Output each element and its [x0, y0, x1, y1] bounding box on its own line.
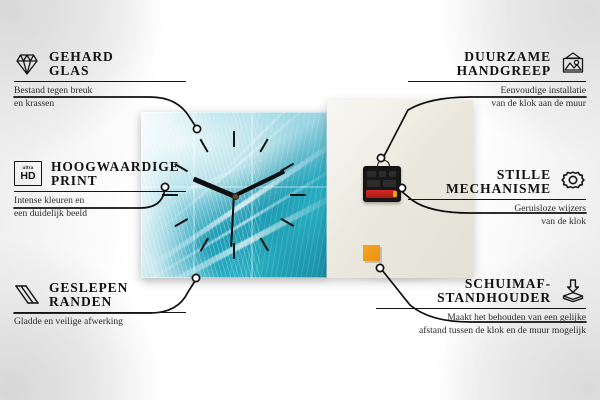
divider — [14, 81, 186, 83]
feature-title-line: RANDEN — [49, 295, 128, 309]
feature-title-line: HANDGREEP — [457, 64, 551, 78]
feature-stille-mechanisme: STILLE MECHANISME Geruisloze wijzers van… — [408, 168, 586, 228]
feature-title-line: PRINT — [51, 174, 180, 188]
battery — [366, 190, 396, 198]
feature-description: Intense kleuren en een duidelijk beeld — [14, 195, 186, 220]
feature-duurzame-handgreep: DUURZAME HANDGREEP Eenvoudige installati… — [408, 50, 586, 110]
feature-title: HOOGWAARDIGE PRINT — [51, 160, 180, 188]
feature-title-line: STILLE — [497, 168, 551, 182]
divider — [376, 308, 586, 310]
clock-tick — [233, 131, 235, 147]
feature-title: DUURZAME HANDGREEP — [457, 50, 551, 78]
feature-title-line: STANDHOUDER — [437, 291, 551, 305]
infographic-canvas: GEHARD GLAS Bestand tegen breuk en krass… — [0, 0, 600, 400]
feature-title-line: GESLEPEN — [49, 281, 128, 295]
feature-description: Maakt het behouden van een gelijke afsta… — [376, 312, 586, 337]
press-down-pad-icon — [560, 278, 586, 304]
beveled-edges-icon — [14, 282, 40, 308]
mechanism-detail — [367, 180, 380, 187]
clock-hub — [232, 193, 239, 200]
feature-title-line: HOOGWAARDIGE — [51, 160, 180, 174]
feature-title: SCHUIMAF- STANDHOUDER — [437, 277, 551, 305]
feature-title: GESLEPEN RANDEN — [49, 281, 128, 309]
feature-description: Geruisloze wijzers van de klok — [408, 203, 586, 228]
feature-title-line: GEHARD — [49, 50, 114, 64]
feature-title: GEHARD GLAS — [49, 50, 114, 78]
divider — [408, 81, 586, 83]
feature-description: Bestand tegen breuk en krassen — [14, 85, 186, 110]
mechanism-detail — [383, 180, 396, 187]
gear-icon — [560, 169, 586, 195]
divider — [14, 312, 186, 314]
feature-description: Gladde en veilige afwerking — [14, 316, 186, 329]
clock-tick — [233, 243, 235, 259]
feature-title-line: MECHANISME — [446, 182, 551, 196]
ultra-hd-icon-large-text: HD — [20, 171, 35, 182]
diamond-icon — [14, 51, 40, 77]
battery-terminal — [393, 191, 397, 197]
mechanism-detail — [379, 171, 386, 177]
feature-title: STILLE MECHANISME — [446, 168, 551, 196]
feature-hoogwaardige-print: ultra HD HOOGWAARDIGE PRINT Intense kleu… — [14, 160, 186, 220]
divider — [14, 191, 186, 193]
feature-description: Eenvoudige installatie van de klok aan d… — [408, 85, 586, 110]
hanger-hook-icon — [377, 160, 390, 170]
feature-title-line: SCHUIMAF- — [465, 277, 551, 291]
clock-tick — [290, 194, 306, 197]
feature-title-line: DUURZAME — [464, 50, 551, 64]
feature-geslepen-randen: GESLEPEN RANDEN Gladde en veilige afwerk… — [14, 281, 186, 329]
feature-gehard-glas: GEHARD GLAS Bestand tegen breuk en krass… — [14, 50, 186, 110]
ultra-hd-icon: ultra HD — [14, 161, 42, 186]
mechanism-detail — [367, 171, 376, 177]
divider — [408, 199, 586, 201]
clock-mechanism — [363, 166, 401, 202]
feature-schuimafstandhouder: SCHUIMAF- STANDHOUDER Maakt het behouden… — [376, 277, 586, 337]
picture-frame-hanger-icon — [560, 51, 586, 77]
feature-title-line: GLAS — [49, 64, 114, 78]
mechanism-detail — [389, 171, 396, 177]
foam-spacer-pad — [363, 245, 380, 261]
